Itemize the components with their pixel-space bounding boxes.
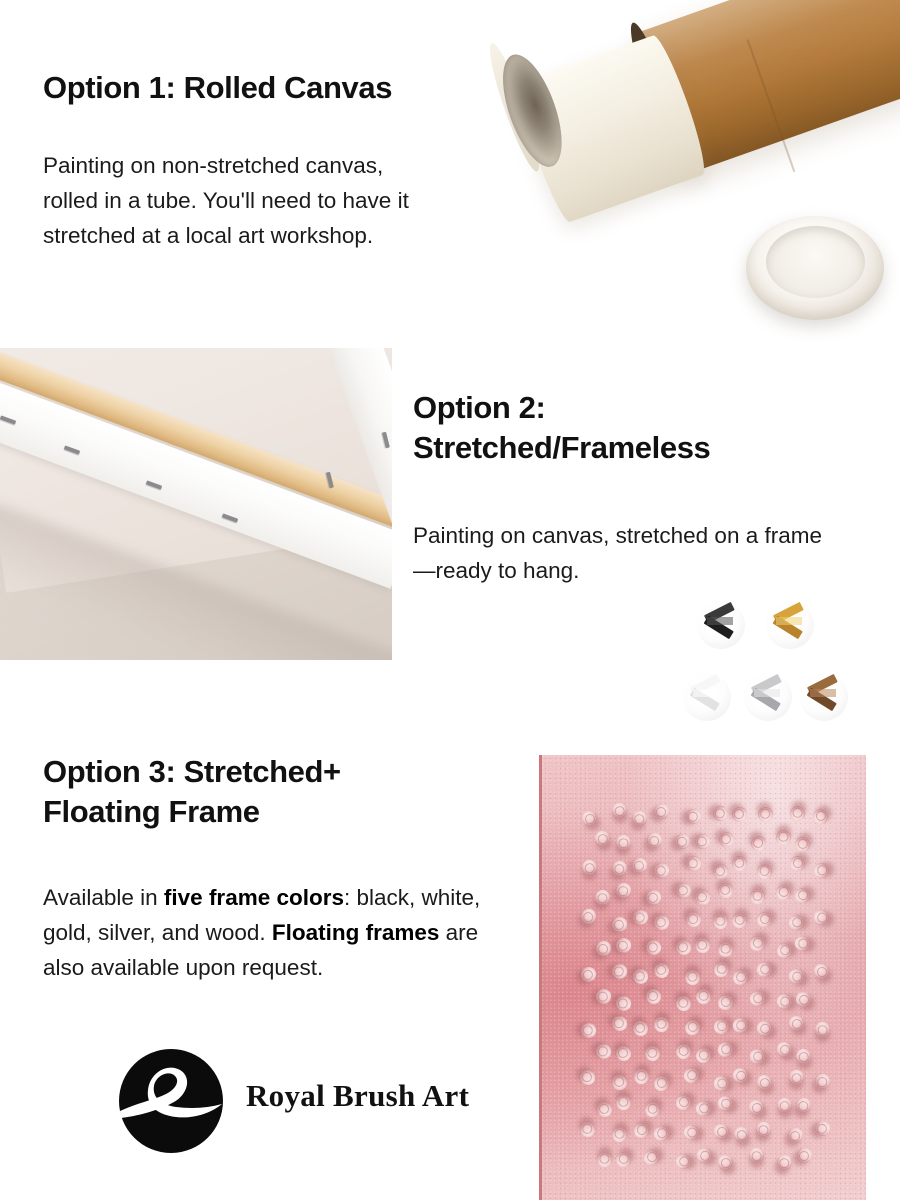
painting-texture-dot: [684, 807, 704, 827]
painting-texture-dot: [673, 1041, 693, 1061]
painting-texture-dot: [685, 911, 701, 927]
frame-corner-icon: [751, 680, 785, 714]
painting-texture-dot: [613, 832, 634, 853]
painting-texture-dot: [653, 1074, 671, 1092]
painting-texture-dot: [593, 829, 612, 848]
painting-texture-dot: [673, 994, 693, 1014]
painting-texture-dot: [642, 1100, 662, 1120]
painting-texture-dot: [755, 805, 775, 825]
painting-texture-dot: [643, 937, 664, 958]
painting-texture-dot: [645, 988, 661, 1004]
painting-texture-dot: [775, 1153, 795, 1173]
painting-texture-dot: [748, 988, 768, 1008]
painting-texture-dot: [652, 913, 672, 933]
painting-texture-dot: [682, 967, 703, 988]
frame-corner-icon: [807, 680, 841, 714]
painting-texture-dot: [746, 1145, 767, 1166]
frame-corner-icon: [704, 608, 738, 642]
painting-texture-dot: [811, 861, 831, 881]
painting-texture-dot: [753, 1119, 774, 1140]
painting-texture-dot: [681, 1122, 702, 1143]
painting-texture-dot: [694, 889, 712, 907]
painting-texture-dot: [632, 1020, 650, 1038]
painting-texture-dot: [792, 932, 813, 953]
painting-texture-dot: [775, 883, 794, 902]
painting-texture-dot: [717, 994, 733, 1010]
painting-texture-dot: [749, 1099, 764, 1114]
painting-texture-dot: [730, 1015, 751, 1036]
pink-textured-painting-photo: [542, 755, 866, 1200]
painting-texture-dot: [812, 808, 829, 825]
painting-texture-dot: [755, 861, 776, 882]
painting-texture-dot: [631, 1065, 652, 1086]
painting-texture-dot: [613, 1092, 634, 1113]
painting-texture-dot: [730, 911, 750, 931]
painting-texture-dot: [712, 1018, 730, 1036]
painting-texture-dot: [683, 1066, 702, 1085]
painting-texture-dot: [693, 986, 714, 1007]
frame-swatch-gold[interactable]: [766, 601, 814, 649]
painting-texture-dot: [774, 991, 795, 1012]
painting-texture-dot: [794, 1047, 814, 1067]
painting-texture-dot: [775, 1096, 795, 1116]
painting-texture-dot: [795, 991, 812, 1008]
painting-texture-dot: [594, 1149, 615, 1170]
painting-texture-dot: [729, 853, 749, 873]
painting-texture-dot: [713, 1122, 731, 1140]
painting-texture-dot: [812, 1019, 833, 1040]
painting-texture-dot: [675, 1095, 691, 1111]
painting-texture-dot: [609, 961, 630, 982]
painting-texture-dot: [755, 1074, 773, 1092]
painting-texture-dot: [673, 879, 694, 900]
painting-texture-dot: [609, 800, 629, 820]
frame-swatch-white[interactable]: [683, 673, 731, 721]
painting-texture-dot: [579, 857, 600, 878]
painting-texture-dot: [813, 1072, 832, 1091]
painting-texture-dot: [713, 864, 728, 879]
painting-texture-dot: [717, 881, 736, 900]
painting-texture-dot: [754, 959, 775, 980]
painting-texture-dot: [789, 856, 805, 872]
painting-texture-dot: [613, 994, 634, 1015]
painting-texture-dot: [695, 1146, 715, 1166]
painting-texture-dot: [710, 803, 731, 824]
frame-swatch-silver[interactable]: [744, 673, 792, 721]
painting-texture-dot: [749, 935, 767, 953]
painting-texture-dot: [731, 807, 747, 823]
painting-texture-dot: [615, 882, 632, 899]
rolled-canvas-tube-photo: [470, 0, 900, 342]
tube-cap-inner: [766, 226, 865, 298]
frame-swatch-wood[interactable]: [800, 673, 848, 721]
option-2-title: Option 2: Stretched/Frameless: [413, 388, 833, 467]
brand-name: Royal Brush Art: [246, 1078, 469, 1114]
painting-texture-dot: [609, 1124, 630, 1145]
painting-texture-dot: [633, 1122, 650, 1139]
painting-texture-dot: [793, 835, 812, 854]
stretched-canvas-corner-photo: [0, 348, 392, 660]
option-1-title: Option 1: Rolled Canvas: [43, 68, 483, 108]
painting-texture-dot: [696, 1048, 711, 1063]
painting-texture-dot: [596, 1102, 613, 1119]
painting-texture-dot: [711, 1073, 732, 1094]
painting-texture-dot: [813, 1119, 831, 1137]
painting-texture-dot: [711, 911, 732, 932]
brushstroke-circle-logo-icon: [118, 1048, 224, 1154]
painting-texture-dot: [715, 939, 736, 960]
painting-texture-dot: [653, 961, 670, 978]
painting-texture-dot: [814, 963, 830, 979]
painting-texture-dot: [717, 830, 736, 849]
painting-texture-dot: [609, 859, 629, 879]
brand-logo: Royal Brush Art: [118, 1048, 498, 1156]
painting-texture-dot: [579, 1069, 596, 1086]
painting-texture-dot: [577, 1119, 597, 1139]
flyer-page: Option 1: Rolled Canvas Painting on non-…: [0, 0, 900, 1200]
painting-texture-dot: [613, 936, 633, 956]
painting-texture-dot: [673, 1151, 694, 1172]
painting-texture-dot: [693, 936, 712, 955]
painting-texture-dot: [694, 1098, 715, 1119]
painting-texture-dot: [811, 907, 832, 928]
painting-texture-dot: [717, 1154, 733, 1170]
painting-texture-dot: [610, 1073, 629, 1092]
painting-texture-dot: [787, 1127, 805, 1145]
painting-texture-dot: [747, 1046, 768, 1067]
painting-texture-dot: [732, 1067, 751, 1086]
option-3-body: Available in five frame colors: black, w…: [43, 880, 513, 985]
painting-texture-dot: [651, 1014, 672, 1035]
painting-texture-dot: [610, 1014, 628, 1032]
painting-texture-dot: [644, 888, 663, 907]
painting-texture-dot: [787, 803, 808, 824]
painting-texture-dot: [794, 886, 812, 904]
painting-texture-dot: [654, 804, 670, 820]
painting-texture-dot: [674, 832, 692, 850]
painting-texture-dot: [642, 1044, 663, 1065]
painting-texture-dot: [747, 886, 768, 907]
painting-texture-dot: [796, 1147, 812, 1163]
painting-texture-dot: [614, 1150, 633, 1169]
painting-texture-dot: [652, 1123, 671, 1142]
painting-texture-dot: [629, 808, 650, 829]
painting-texture-dot: [632, 857, 648, 873]
option-2-body: Painting on canvas, stretched on a frame…: [413, 518, 833, 588]
painting-texture-dot: [786, 1066, 807, 1087]
painting-texture-dot: [611, 916, 628, 933]
painting-texture-dot: [732, 969, 748, 985]
frame-corner-icon: [690, 680, 724, 714]
painting-texture-dot: [592, 887, 613, 908]
painting-texture-dot: [579, 966, 597, 984]
frame-corner-icon: [773, 608, 807, 642]
painting-texture-dot: [777, 1041, 793, 1057]
painting-texture-dot: [593, 986, 613, 1006]
painting-texture-dot: [788, 1015, 805, 1032]
painting-texture-dot: [643, 1149, 660, 1166]
painting-texture-dot: [757, 912, 772, 927]
painting-texture-dot: [594, 1042, 614, 1062]
painting-texture-dot: [645, 831, 663, 849]
frame-swatch-black[interactable]: [697, 601, 745, 649]
painting-texture-dot: [692, 831, 713, 852]
painting-texture-dot: [675, 939, 692, 956]
option-3-title: Option 3: Stretched+ Floating Frame: [43, 752, 483, 831]
painting-texture-dot: [683, 1018, 702, 1037]
painting-texture-dot: [787, 967, 807, 987]
painting-texture-dot: [794, 1095, 815, 1116]
painting-texture-dot: [715, 1094, 735, 1114]
painting-texture-dot: [715, 1040, 735, 1060]
painting-texture-dot: [755, 1019, 774, 1038]
painting-texture-dot: [651, 860, 672, 881]
painting-texture-dot: [711, 960, 731, 980]
painting-texture-dot: [732, 1125, 751, 1144]
painting-texture-dot: [775, 941, 794, 960]
painting-texture-dot: [773, 827, 794, 848]
painting-texture-dot: [579, 907, 599, 927]
painting-texture-dot: [631, 967, 650, 986]
painting-texture-dot: [595, 941, 611, 957]
painting-texture-dot: [749, 835, 767, 853]
painting-texture-dot: [582, 811, 597, 826]
painting-texture-dot: [683, 854, 703, 874]
painting-texture-dot: [577, 1019, 598, 1040]
option-1-body: Painting on non-stretched canvas, rolled…: [43, 148, 443, 253]
painting-texture-dot: [630, 907, 651, 928]
painting-texture-dot: [616, 1045, 632, 1061]
painting-texture-dot: [787, 912, 807, 932]
